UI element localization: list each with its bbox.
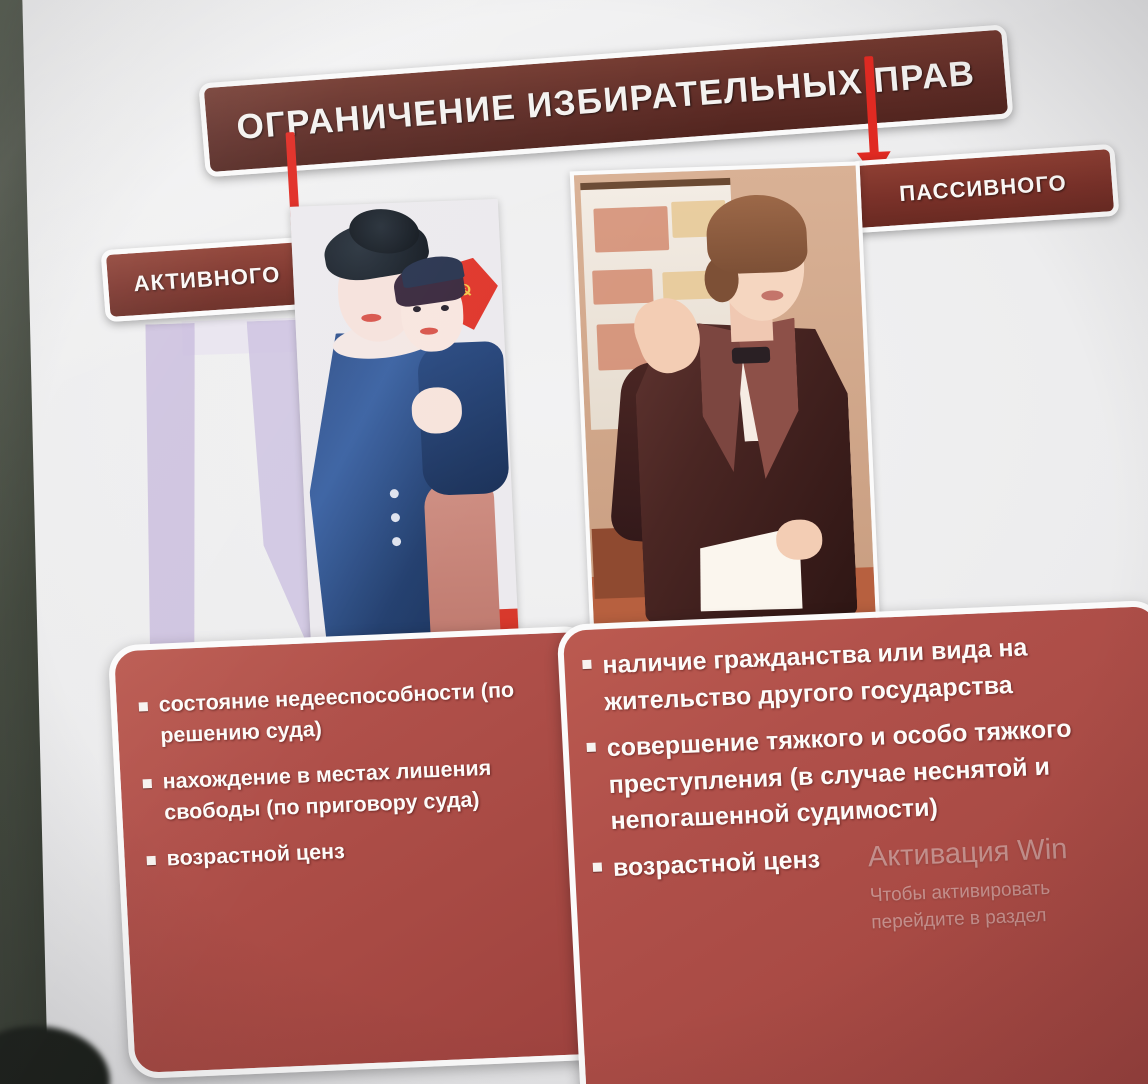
board-note [593, 206, 669, 253]
bullet-text: совершение тяжкого и особо тяжкого прест… [606, 708, 1147, 840]
bullet-square-icon [582, 660, 591, 669]
bullet-text: возрастной ценз [612, 841, 821, 886]
bullet-square-icon [593, 862, 602, 871]
bullet-text: состояние недееспособности (по решению с… [158, 672, 571, 750]
category-label-active-text: АКТИВНОГО [133, 262, 282, 298]
bullet-square-icon [139, 702, 148, 711]
list-item: состояние недееспособности (по решению с… [138, 672, 571, 751]
bullet-square-icon [147, 856, 156, 865]
list-item: возрастной ценз [146, 826, 577, 874]
board-note [592, 269, 653, 305]
bullet-text: наличие гражданства или вида на жительст… [602, 625, 1141, 720]
list-item: совершение тяжкого и особо тяжкого прест… [586, 708, 1147, 841]
category-label-active: АКТИВНОГО [101, 237, 314, 323]
projected-slide-photo: ОГРАНИЧЕНИЕ ИЗБИРАТЕЛЬНЫХ ПРАВ АКТИВНОГО… [0, 0, 1148, 1084]
bow-tie-shape [732, 347, 771, 364]
list-item: нахождение в местах лишения свободы (по … [142, 749, 575, 828]
bullet-text: нахождение в местах лишения свободы (по … [162, 749, 575, 827]
slide-surface: ОГРАНИЧЕНИЕ ИЗБИРАТЕЛЬНЫХ ПРАВ АКТИВНОГО… [22, 0, 1148, 1084]
photo-woman-speaking [570, 161, 881, 641]
arrow-shaft [864, 56, 879, 162]
bullet-square-icon [143, 779, 152, 788]
category-label-passive-text: ПАССИВНОГО [898, 170, 1067, 207]
bullets-passive-box: наличие гражданства или вида на жительст… [556, 600, 1148, 1084]
lower-hand-shape [775, 519, 823, 561]
bullet-text: возрастной ценз [166, 836, 346, 874]
illustration-woman-with-child [290, 199, 519, 651]
hand-shape [411, 386, 463, 434]
list-item: наличие гражданства или вида на жительст… [582, 625, 1141, 721]
bullets-active-box: состояние недееспособности (по решению с… [108, 625, 616, 1079]
child-legs-shape [423, 479, 501, 646]
bullet-square-icon [586, 743, 595, 752]
slide-title-banner: ОГРАНИЧЕНИЕ ИЗБИРАТЕЛЬНЫХ ПРАВ [198, 24, 1013, 177]
